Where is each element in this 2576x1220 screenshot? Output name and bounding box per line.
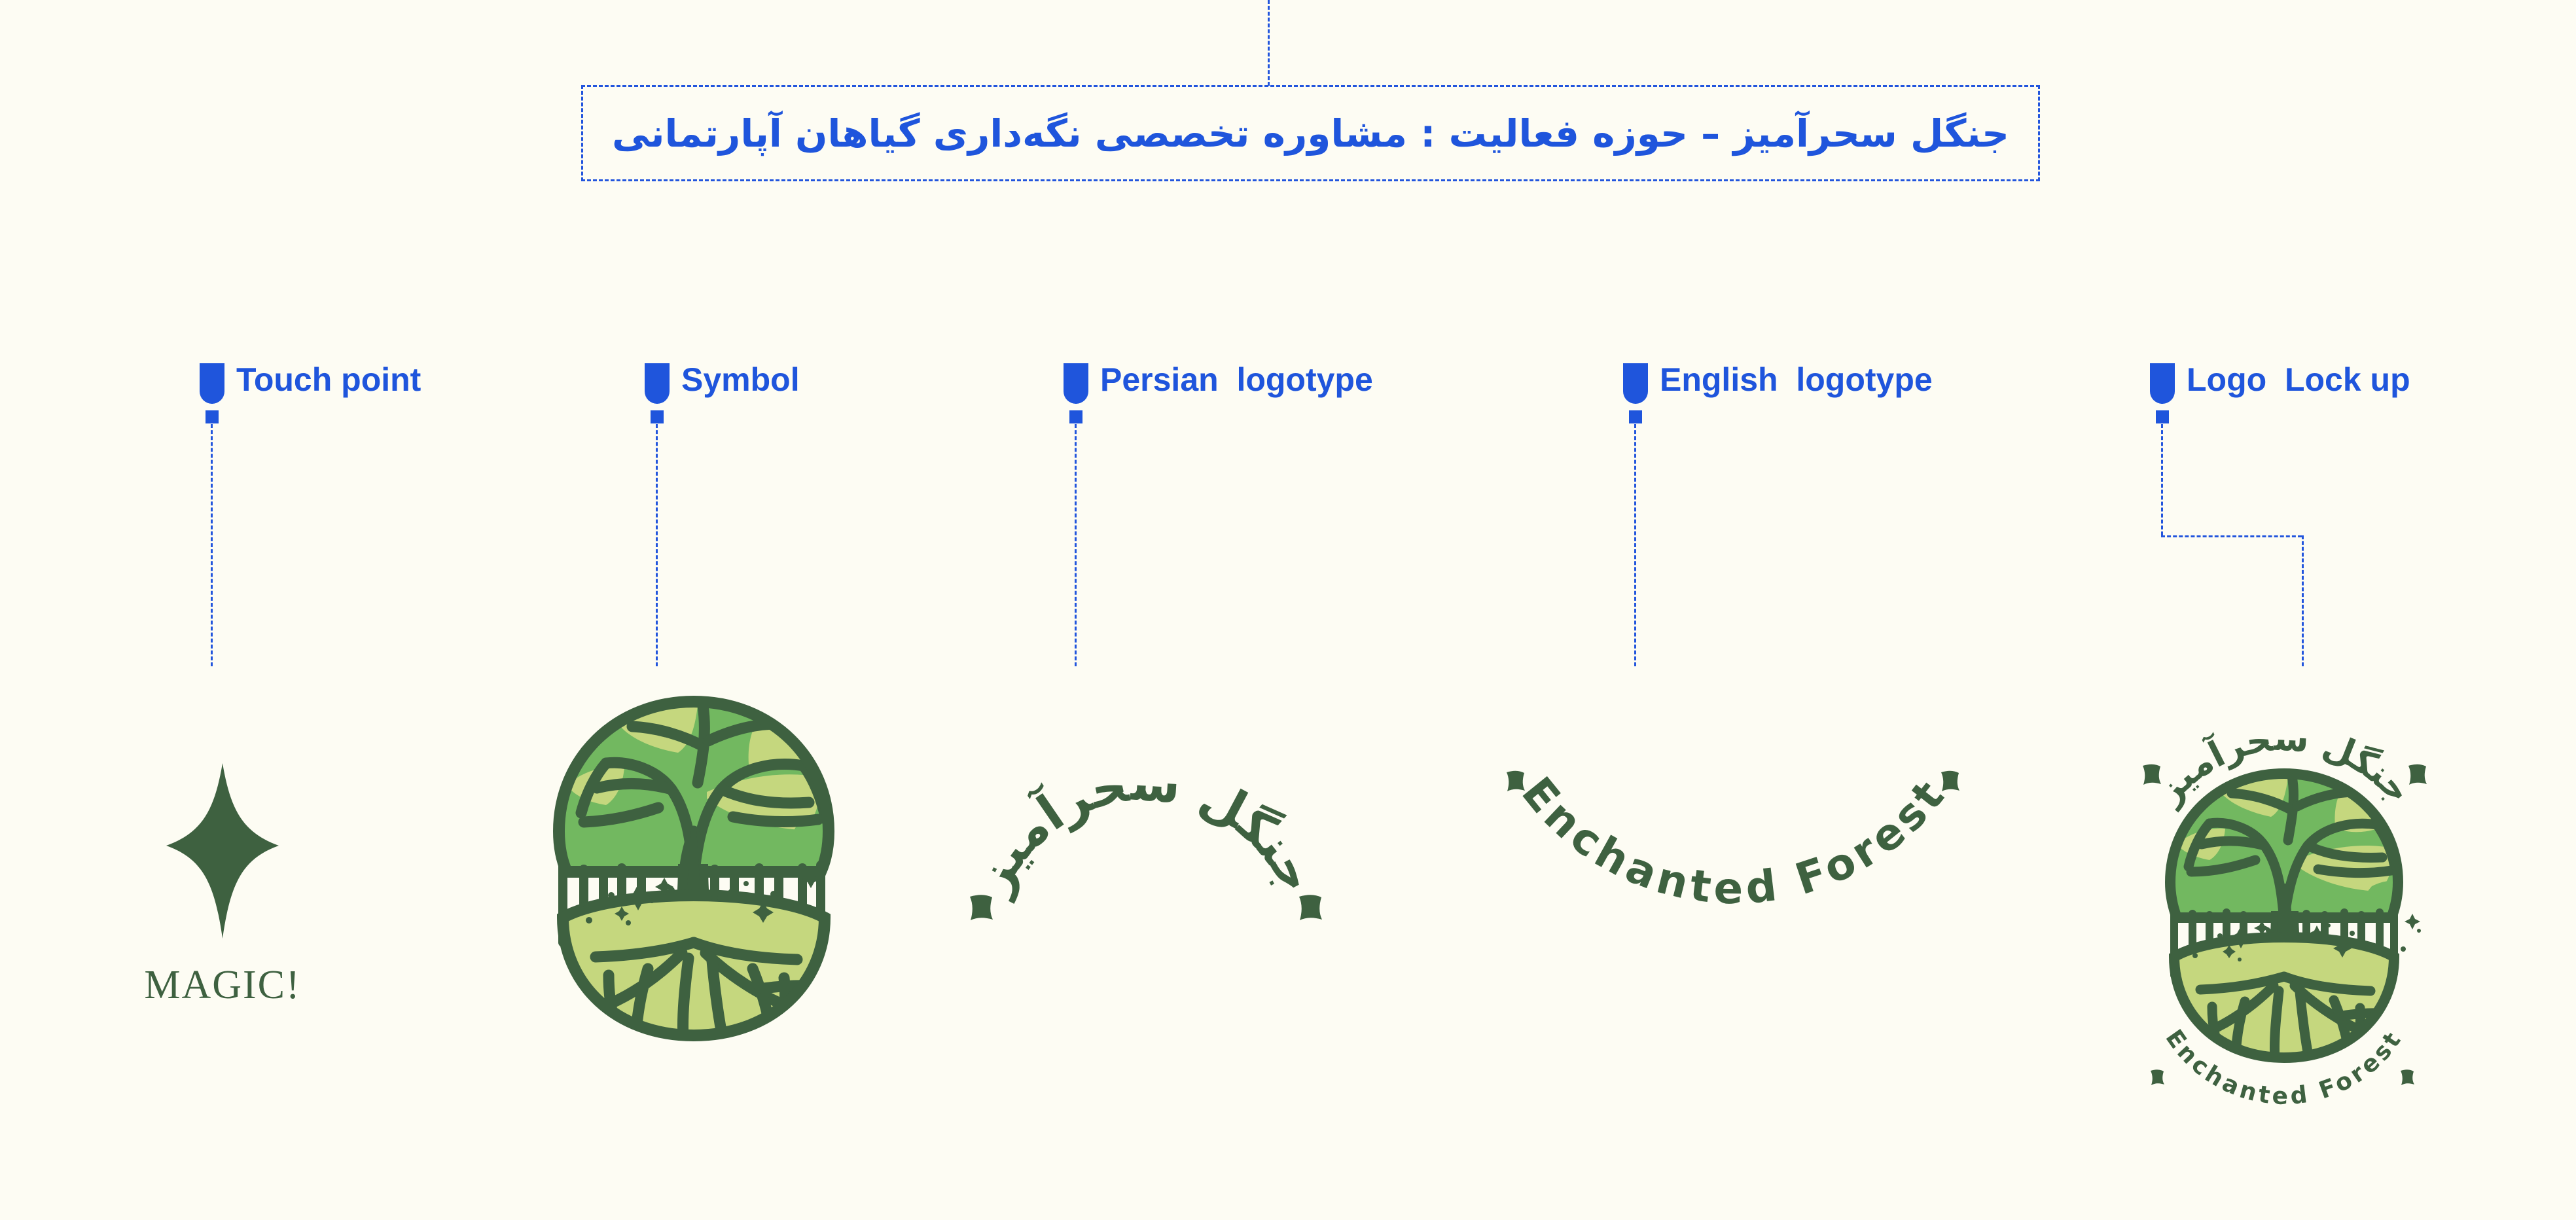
legend-label-touch-point: Touch point xyxy=(236,361,421,399)
pin-marker-icon xyxy=(645,363,670,404)
specimen-logo-lockup: جنگل سحرآمیز Enchanted Forest xyxy=(2114,674,2454,1145)
connector-stem-symbol xyxy=(656,424,658,666)
connector-stem-logo-lockup-lower xyxy=(2302,535,2304,666)
persian-logotype-text: جنگل سحرآمیز xyxy=(961,772,1327,905)
english-logotype-text: Enchanted Forest xyxy=(1512,768,1956,914)
brand-sheet-canvas: جنگل سحرآمیز – حوزه فعالیت : مشاوره تخصص… xyxy=(0,0,2576,1220)
pin-dot-icon xyxy=(1629,410,1642,423)
four-point-star-sparkle-icon xyxy=(144,759,301,942)
page-title: جنگل سحرآمیز – حوزه فعالیت : مشاوره تخصص… xyxy=(612,111,2009,156)
touch-point-caption: MAGIC! xyxy=(118,962,327,1009)
legend-label-symbol: Symbol xyxy=(681,361,800,399)
connector-stem-logo-lockup-upper xyxy=(2161,424,2163,535)
legend-label-english-logotype: English logotype xyxy=(1660,361,1933,399)
pin-dot-icon xyxy=(2156,410,2169,423)
specimen-persian-logotype: جنگل سحرآمیز xyxy=(942,772,1348,936)
english-logotype-arc: Enchanted Forest xyxy=(1479,759,1990,949)
four-point-star-ornament-icon xyxy=(970,895,1322,920)
legend-label-persian-logotype: Persian logotype xyxy=(1100,361,1373,399)
title-connector-stem xyxy=(1268,0,1270,86)
legend-item-english-logotype[interactable]: English logotype xyxy=(1623,363,1933,404)
specimen-symbol xyxy=(543,668,844,1060)
pin-dot-icon xyxy=(651,410,664,423)
connector-stem-touch-point xyxy=(211,424,213,666)
specimen-english-logotype: Enchanted Forest xyxy=(1479,759,1990,949)
persian-logotype-arc: جنگل سحرآمیز xyxy=(942,772,1348,936)
pin-marker-icon xyxy=(1623,363,1648,404)
legend-item-touch-point[interactable]: Touch point xyxy=(200,363,421,404)
specimen-touch-point: MAGIC! xyxy=(118,759,327,1009)
title-box: جنگل سحرآمیز – حوزه فعالیت : مشاوره تخصص… xyxy=(581,85,2040,181)
banyan-tree-circle-symbol-icon xyxy=(543,668,844,1060)
four-point-star-ornament-icon xyxy=(1507,771,1959,791)
pin-dot-icon xyxy=(1069,410,1082,423)
pin-marker-icon xyxy=(1064,363,1088,404)
legend-label-logo-lockup: Logo Lock up xyxy=(2187,361,2410,399)
legend-item-symbol[interactable]: Symbol xyxy=(645,363,800,404)
connector-elbow-logo-lockup xyxy=(2161,535,2302,537)
legend-item-logo-lockup[interactable]: Logo Lock up xyxy=(2150,363,2410,404)
legend-item-persian-logotype[interactable]: Persian logotype xyxy=(1064,363,1373,404)
logo-lockup-icon: جنگل سحرآمیز Enchanted Forest xyxy=(2114,674,2454,1145)
connector-stem-english-logotype xyxy=(1634,424,1636,666)
pin-marker-icon xyxy=(200,363,224,404)
pin-marker-icon xyxy=(2150,363,2175,404)
connector-stem-persian-logotype xyxy=(1075,424,1077,666)
pin-dot-icon xyxy=(206,410,219,423)
